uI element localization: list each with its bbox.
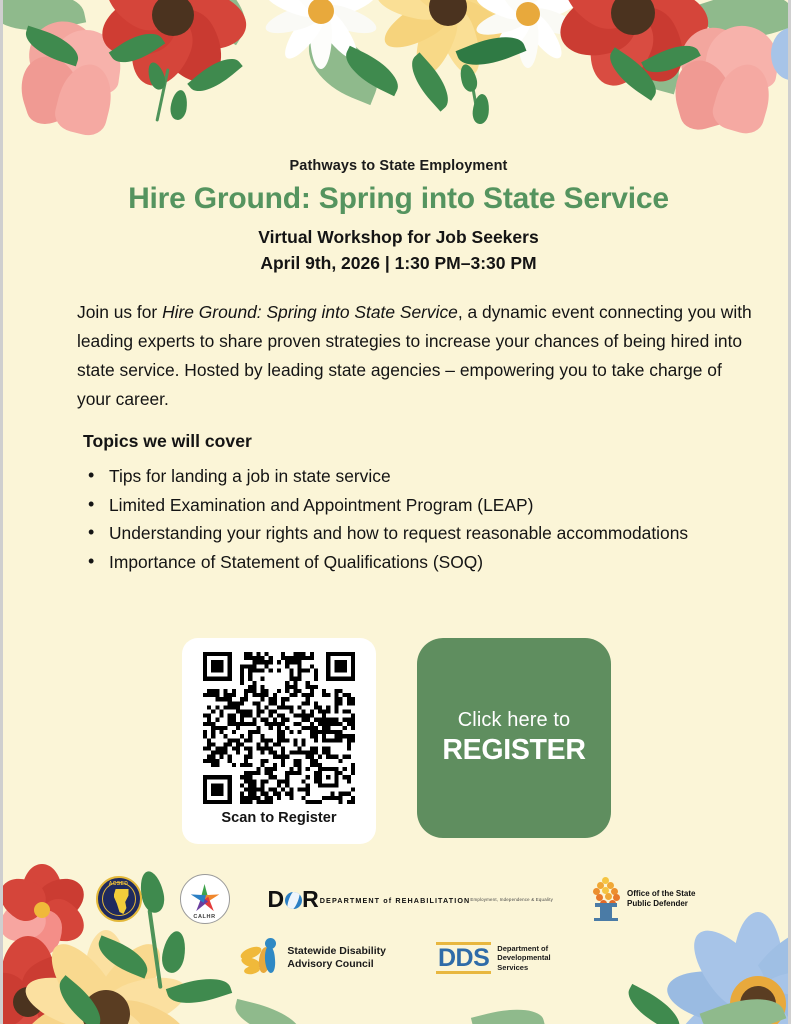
leaf-shape bbox=[177, 0, 260, 45]
leaf-shape bbox=[338, 46, 405, 97]
stem-shape bbox=[155, 68, 169, 121]
register-button[interactable]: Click here to REGISTER bbox=[417, 638, 611, 838]
dor-globe-icon bbox=[285, 892, 302, 909]
leaf-shape bbox=[446, 0, 556, 55]
dor-department-label: DEPARTMENT of REHABILITATION bbox=[320, 897, 471, 904]
page-title: Hire Ground: Spring into State Service bbox=[3, 182, 791, 216]
ospd-logo: Office of the State Public Defender bbox=[591, 877, 695, 921]
flower-bud bbox=[457, 62, 479, 93]
list-item: Tips for landing a job in state service bbox=[83, 463, 723, 491]
acsed-seal-icon: ACSED bbox=[96, 876, 142, 922]
leaf-shape bbox=[231, 999, 305, 1024]
flower-bud bbox=[169, 89, 189, 121]
leaf-shape bbox=[187, 49, 243, 101]
list-item: Limited Examination and Appointment Prog… bbox=[83, 492, 723, 520]
blue-petal-shape bbox=[771, 28, 791, 80]
flower-bud bbox=[145, 60, 168, 91]
red-poppy-flower bbox=[98, 0, 248, 90]
register-button-line1: Click here to bbox=[458, 709, 570, 732]
dds-line2: Developmental bbox=[497, 953, 550, 963]
dds-line1: Department of bbox=[497, 944, 550, 954]
sdac-line2: Advisory Council bbox=[287, 958, 386, 971]
white-daisy-flower bbox=[468, 0, 588, 74]
acsed-logo: ACSED bbox=[96, 876, 142, 922]
leaf-shape bbox=[21, 26, 84, 67]
intro-paragraph: Join us for Hire Ground: Spring into Sta… bbox=[77, 298, 757, 414]
yellow-daisy-flower bbox=[373, 0, 523, 82]
tulip-flower bbox=[675, 24, 791, 134]
sdac-logo: Statewide Disability Advisory Council bbox=[240, 938, 386, 978]
ospd-line2: Public Defender bbox=[627, 899, 695, 909]
leaf-shape bbox=[456, 27, 527, 76]
dds-abbr: DDS bbox=[436, 942, 491, 974]
qr-code-card[interactable]: Scan to Register bbox=[182, 638, 376, 844]
topics-heading: Topics we will cover bbox=[83, 431, 252, 452]
floral-border-top bbox=[3, 0, 791, 150]
tulip-flower bbox=[21, 22, 141, 132]
leaf-shape bbox=[597, 16, 690, 95]
leaf-shape bbox=[601, 47, 664, 100]
acsed-abbr: ACSED bbox=[98, 881, 140, 887]
qr-caption: Scan to Register bbox=[221, 810, 336, 826]
dor-logo: DR DEPARTMENT of REHABILITATION Employme… bbox=[268, 888, 554, 911]
sdac-name: Statewide Disability Advisory Council bbox=[287, 945, 386, 971]
calhr-abbr: CALHR bbox=[181, 914, 229, 920]
ospd-name: Office of the State Public Defender bbox=[627, 889, 695, 909]
calhr-logo: CALHR bbox=[180, 874, 230, 924]
sdac-figure-icon bbox=[240, 938, 280, 978]
flyer-page: Pathways to State Employment Hire Ground… bbox=[0, 0, 791, 1024]
topics-list: Tips for landing a job in state service … bbox=[83, 463, 723, 577]
dds-logo: DDS Department of Developmental Services bbox=[436, 942, 551, 974]
dor-letter-d: D bbox=[268, 888, 286, 911]
flower-bud bbox=[471, 93, 490, 125]
red-poppy-flower bbox=[558, 0, 708, 88]
stem-shape bbox=[468, 70, 480, 124]
leaf-shape bbox=[50, 975, 110, 1024]
leaf-shape bbox=[296, 27, 390, 105]
intro-event-name: Hire Ground: Spring into State Service bbox=[162, 302, 458, 322]
partner-logos-row-2: Statewide Disability Advisory Council DD… bbox=[3, 938, 788, 978]
dor-letter-r: R bbox=[302, 888, 320, 911]
leaf-shape bbox=[700, 986, 787, 1024]
list-item: Understanding your rights and how to req… bbox=[83, 520, 723, 548]
calhr-seal-icon: CALHR bbox=[180, 874, 230, 924]
sdac-line1: Statewide Disability bbox=[287, 945, 386, 958]
torch-base bbox=[594, 918, 618, 922]
list-item: Importance of Statement of Qualification… bbox=[83, 549, 723, 577]
leaf-shape bbox=[0, 0, 86, 41]
cta-row: Scan to Register Click here to REGISTER bbox=[3, 638, 791, 848]
dds-name: Department of Developmental Services bbox=[497, 944, 550, 973]
dor-tagline: Employment, Independence & Equality bbox=[470, 898, 553, 902]
ospd-line1: Office of the State bbox=[627, 889, 695, 899]
torch-icon bbox=[591, 877, 621, 921]
star-icon bbox=[190, 884, 220, 914]
leaf-shape bbox=[641, 36, 701, 82]
leaf-shape bbox=[697, 0, 791, 53]
leaf-shape bbox=[621, 984, 687, 1024]
eyebrow-text: Pathways to State Employment bbox=[3, 158, 791, 174]
register-button-line2: REGISTER bbox=[442, 734, 585, 767]
subtitle-datetime: April 9th, 2026 | 1:30 PM–3:30 PM bbox=[3, 253, 791, 274]
leaf-shape bbox=[109, 24, 166, 73]
partner-logos-row-1: ACSED CALHR DR DEPARTMENT of REHABILITA bbox=[3, 874, 788, 924]
dds-line3: Services bbox=[497, 963, 550, 973]
white-daisy-flower bbox=[258, 0, 383, 73]
dor-wordmark: DR bbox=[268, 888, 320, 911]
leaf-shape bbox=[402, 52, 459, 111]
intro-before: Join us for bbox=[77, 302, 162, 322]
qr-code-image[interactable] bbox=[203, 652, 355, 804]
leaf-shape bbox=[471, 1001, 545, 1024]
subtitle-audience: Virtual Workshop for Job Seekers bbox=[3, 227, 791, 248]
